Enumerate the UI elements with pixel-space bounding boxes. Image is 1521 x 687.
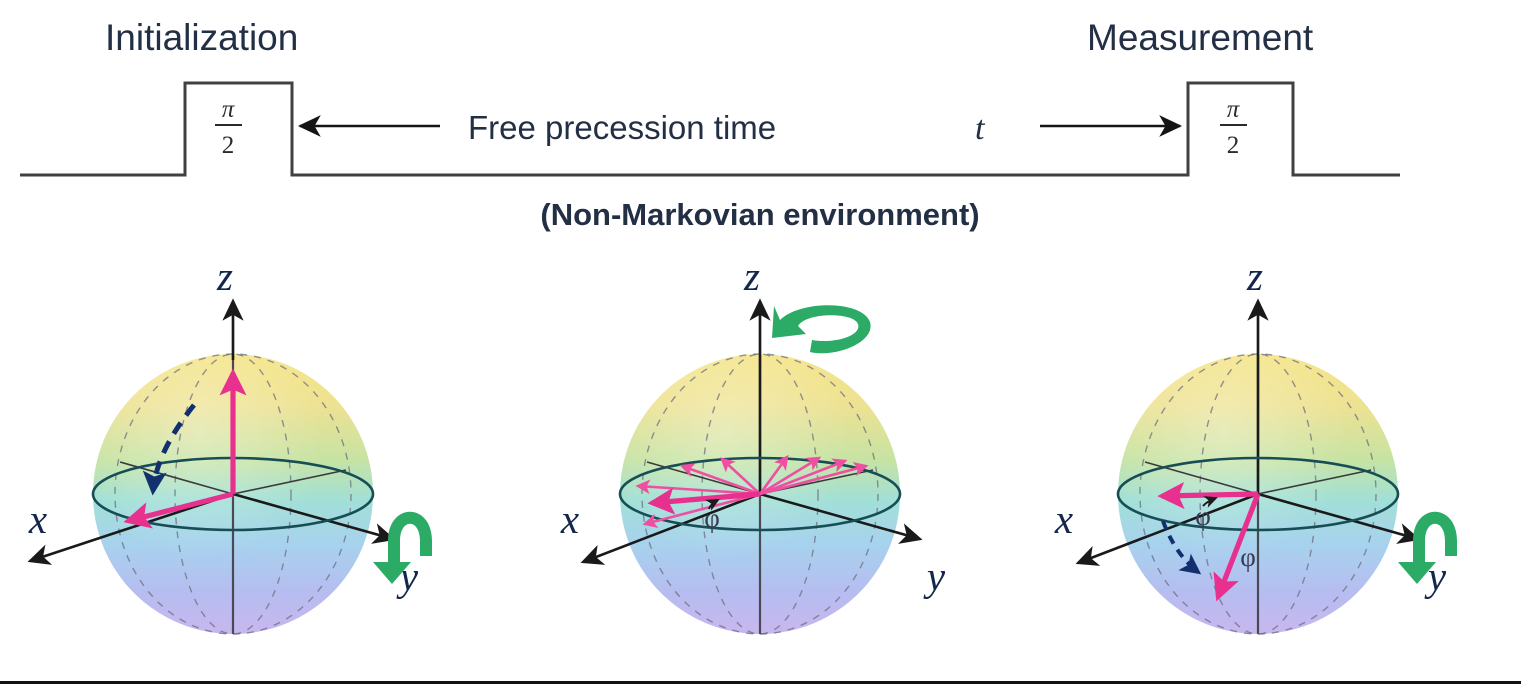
initialization-label: Initialization (105, 17, 298, 58)
pulse-left-fraction: π 2 (215, 96, 242, 159)
sphere3-phi-label-plane: φ (1195, 501, 1211, 531)
pulse-sequence-group: Initialization Measurement π 2 π 2 Free … (20, 17, 1400, 232)
figure-svg: Initialization Measurement π 2 π 2 Free … (0, 0, 1521, 687)
sphere1-axis-label-z: z (216, 253, 233, 299)
sphere1-axis-label-x: x (28, 496, 47, 542)
free-precession-time-symbol: t (975, 110, 986, 147)
sphere-measurement: z x y φ φ (1054, 253, 1457, 634)
sphere3-axis-label-x: x (1054, 496, 1073, 542)
sphere3-phi-label-tilt: φ (1240, 542, 1256, 572)
sphere2-axis-label-y: y (923, 553, 946, 599)
pulse-right-fraction: π 2 (1220, 96, 1247, 159)
pulse-left-numerator: π (222, 96, 236, 123)
sphere3-axis-label-z: z (1246, 253, 1263, 299)
sphere2-axis-label-x: x (560, 496, 579, 542)
sphere-initialization: z x y (28, 253, 432, 634)
sphere-free-precession: z x y φ (560, 253, 946, 634)
pulse-right-denominator: 2 (1227, 132, 1240, 159)
sphere2-axis-label-z: z (743, 253, 760, 299)
bottom-border-rule (0, 681, 1521, 684)
sphere2-phi-label: φ (704, 503, 720, 533)
measurement-label: Measurement (1087, 17, 1314, 58)
figure-canvas: Initialization Measurement π 2 π 2 Free … (0, 0, 1521, 687)
sphere3-axis-label-y: y (1424, 553, 1447, 599)
pulse-right-numerator: π (1227, 96, 1241, 123)
sphere2-rotation-marker-z (772, 305, 871, 353)
sphere3-vector-minus-x (1162, 494, 1258, 496)
environment-label: (Non-Markovian environment) (540, 197, 979, 232)
free-precession-label: Free precession time (468, 109, 776, 146)
pulse-left-denominator: 2 (222, 132, 235, 159)
